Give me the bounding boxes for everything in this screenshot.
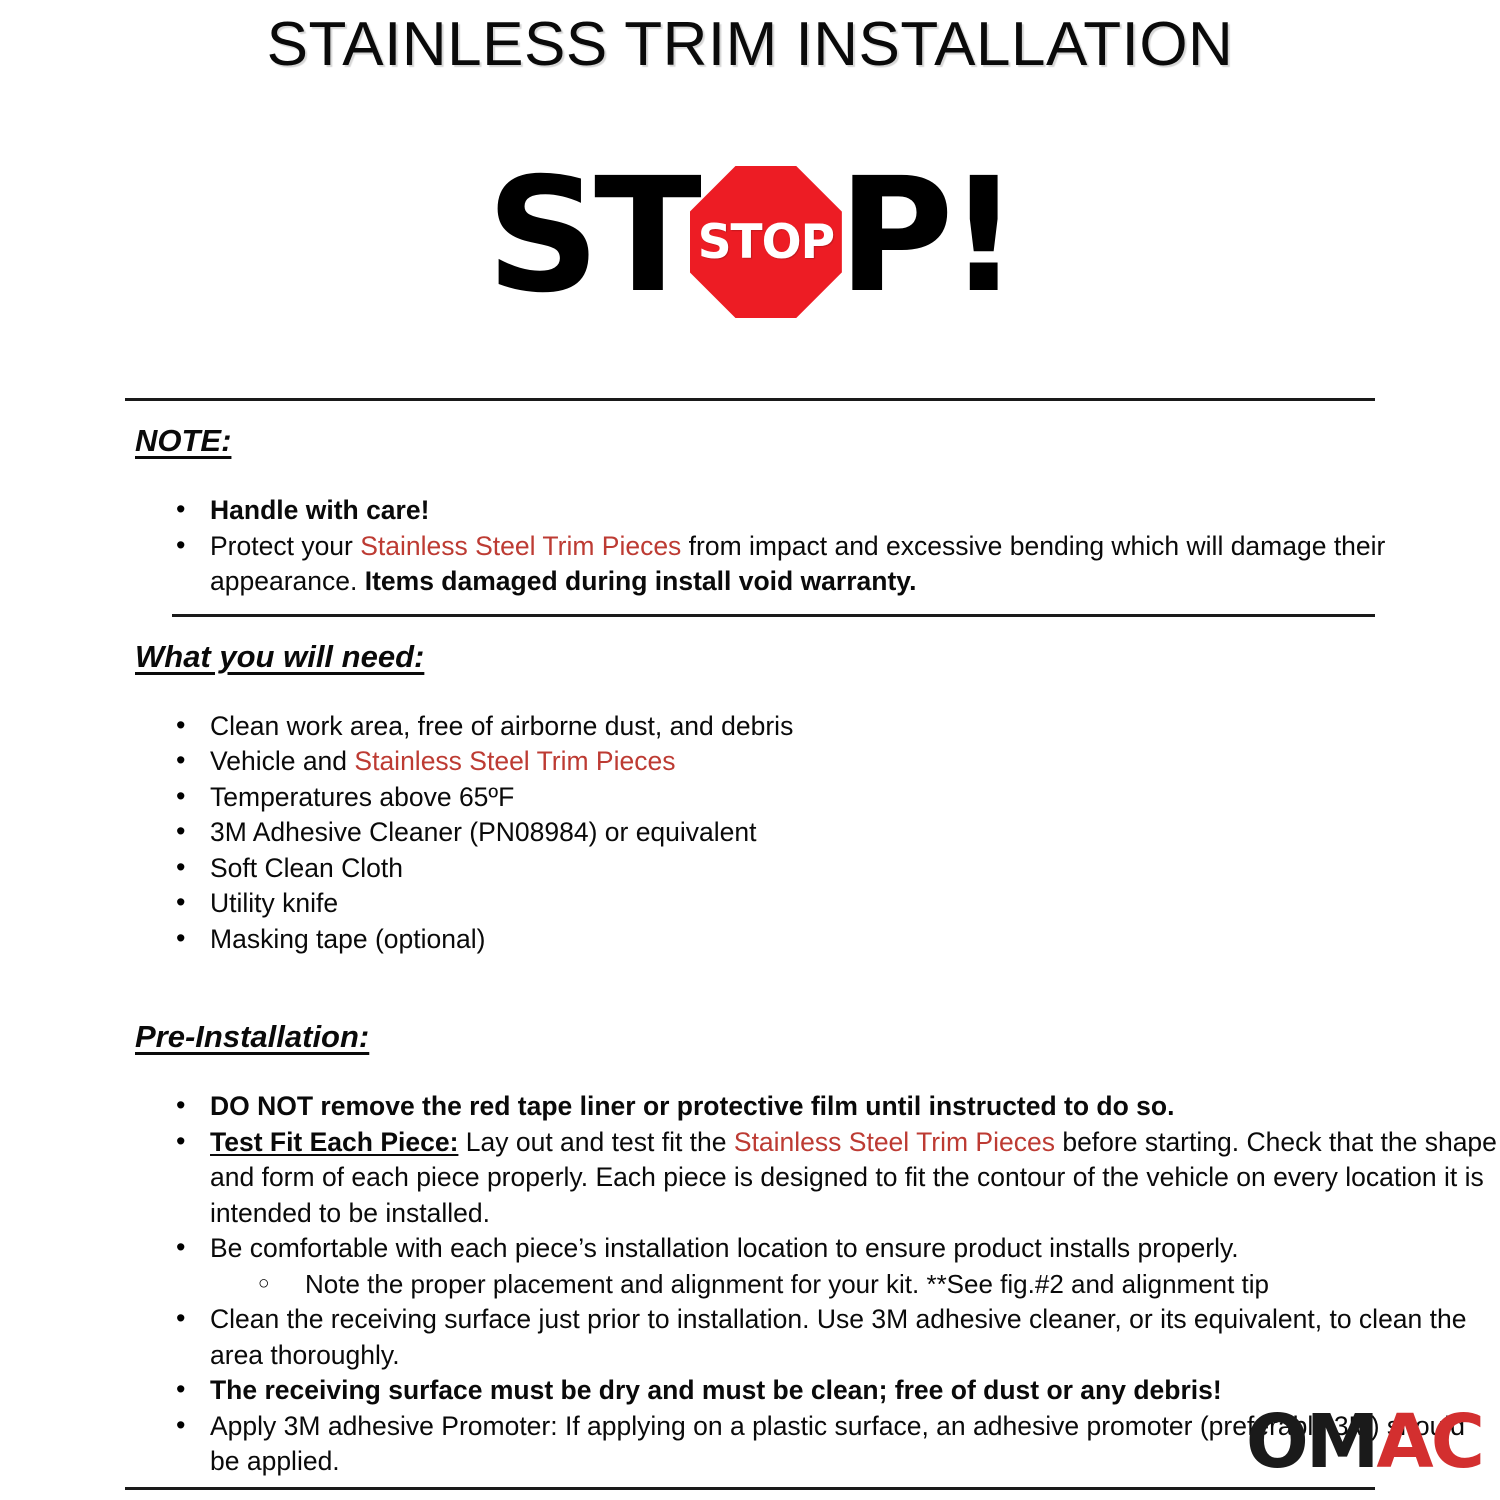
- bullet-text-bold: The receiving surface must be dry and mu…: [210, 1375, 1222, 1405]
- bullet-text: Vehicle and: [210, 746, 354, 776]
- section-heading-preinstall: Pre-Installation:: [135, 1019, 1500, 1055]
- list-item: Test Fit Each Piece: Lay out and test fi…: [0, 1125, 1500, 1232]
- stop-logo-container: ST STOP P!: [0, 148, 1500, 324]
- stop-logo-right-letters: P!: [838, 157, 1014, 315]
- stop-logo-left-letters: ST: [486, 157, 696, 315]
- section-heading-note: NOTE:: [135, 423, 1500, 459]
- list-item: Be comfortable with each piece’s install…: [0, 1231, 1500, 1267]
- bullet-text: Clean the receiving surface just prior t…: [210, 1304, 1467, 1370]
- bullet-text: Soft Clean Cloth: [210, 853, 403, 883]
- sub-list-item: Note the proper placement and alignment …: [0, 1267, 1500, 1303]
- bullet-text-highlight: Stainless Steel Trim Pieces: [354, 746, 675, 776]
- list-item: Clean the receiving surface just prior t…: [0, 1302, 1500, 1373]
- omac-logo-black-text: OM: [1246, 1399, 1377, 1485]
- list-item: Soft Clean Cloth: [0, 851, 1500, 887]
- section-heading-needs: What you will need:: [135, 639, 1500, 675]
- bullet-text: 3M Adhesive Cleaner (PN08984) or equival…: [210, 817, 757, 847]
- bullet-text-bold: Handle with care!: [210, 495, 429, 525]
- list-item: Utility knife: [0, 886, 1500, 922]
- omac-logo-red-text: AC: [1376, 1399, 1482, 1485]
- divider-bottom: [125, 1487, 1375, 1490]
- note-bullet-list: Handle with care! Protect your Stainless…: [0, 493, 1500, 600]
- stop-logo: ST STOP P!: [486, 148, 1013, 324]
- needs-bullet-list: Clean work area, free of airborne dust, …: [0, 709, 1500, 958]
- bullet-text-bold: Items damaged during install void warran…: [365, 566, 917, 596]
- list-item: 3M Adhesive Cleaner (PN08984) or equival…: [0, 815, 1500, 851]
- list-item: Handle with care!: [0, 493, 1500, 529]
- list-item: Masking tape (optional): [0, 922, 1500, 958]
- bullet-text: Utility knife: [210, 888, 338, 918]
- bullet-text: Clean work area, free of airborne dust, …: [210, 711, 793, 741]
- bullet-text-bold: DO NOT remove the red tape liner or prot…: [210, 1091, 1174, 1121]
- footer-divider-container: [0, 1487, 1500, 1490]
- omac-brand-logo: OMAC: [1246, 1405, 1482, 1479]
- stop-sign-icon: STOP: [690, 166, 842, 318]
- stop-sign-label: STOP: [698, 219, 834, 266]
- bullet-text: Masking tape (optional): [210, 924, 485, 954]
- page-title: STAINLESS TRIM INSTALLATION: [0, 0, 1500, 76]
- list-item: Protect your Stainless Steel Trim Pieces…: [0, 529, 1500, 600]
- bullet-text: Be comfortable with each piece’s install…: [210, 1233, 1239, 1263]
- bullet-text-highlight: Stainless Steel Trim Pieces: [734, 1127, 1055, 1157]
- bullet-text: Lay out and test fit the: [458, 1127, 733, 1157]
- document-body: NOTE: Handle with care! Protect your Sta…: [0, 398, 1500, 1480]
- bullet-text: Temperatures above 65ºF: [210, 782, 514, 812]
- bullet-text: Note the proper placement and alignment …: [305, 1269, 1269, 1299]
- bullet-text-bold-underline: Test Fit Each Piece:: [210, 1127, 458, 1157]
- bullet-text: Protect your: [210, 531, 360, 561]
- bullet-text-highlight: Stainless Steel Trim Pieces: [360, 531, 681, 561]
- list-item: Clean work area, free of airborne dust, …: [0, 709, 1500, 745]
- list-item: DO NOT remove the red tape liner or prot…: [0, 1089, 1500, 1125]
- list-item: Temperatures above 65ºF: [0, 780, 1500, 816]
- list-item: Vehicle and Stainless Steel Trim Pieces: [0, 744, 1500, 780]
